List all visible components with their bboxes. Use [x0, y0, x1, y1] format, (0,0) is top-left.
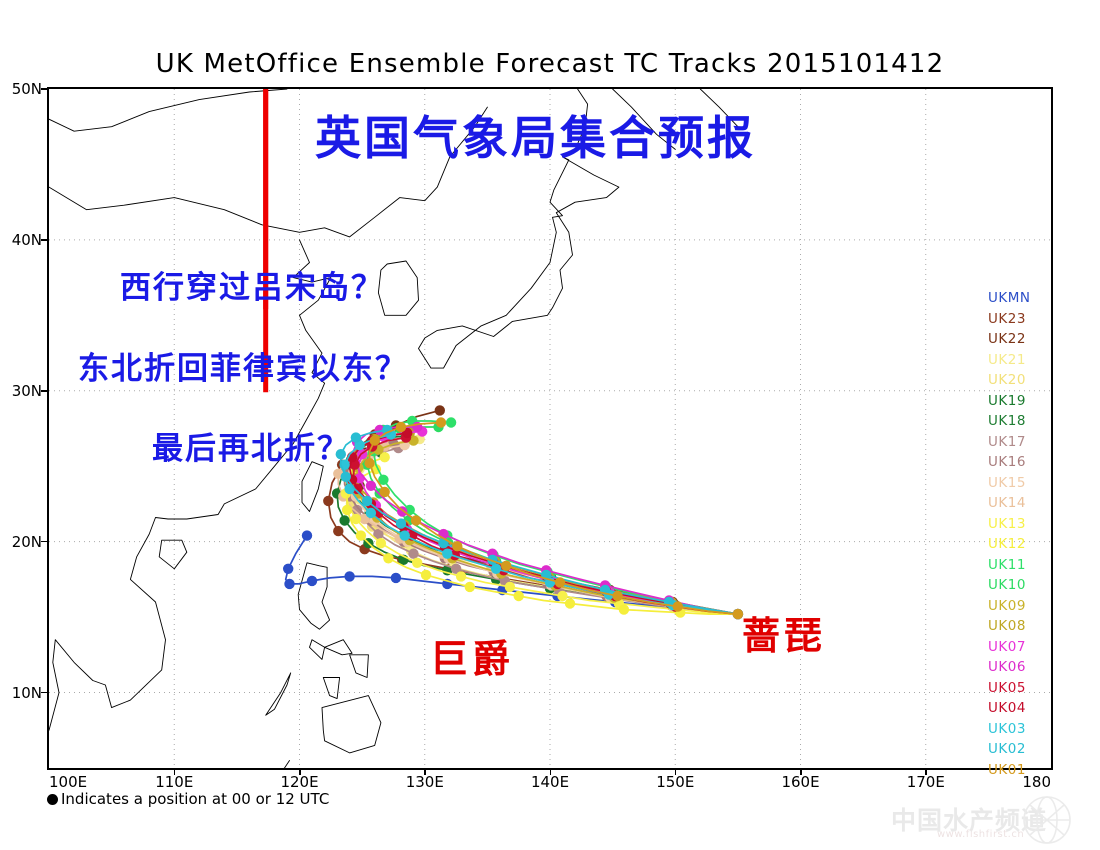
x-tick-label: 100E	[49, 773, 87, 791]
legend-item-ukmn[interactable]: UKMN	[988, 288, 1058, 309]
x-tick-label: 110E	[155, 773, 193, 791]
x-tick-mark	[550, 768, 552, 775]
y-tick-mark	[41, 239, 48, 241]
x-tick-mark	[174, 768, 176, 775]
footnote: Indicates a position at 00 or 12 UTC	[47, 790, 329, 808]
x-tick-mark	[800, 768, 802, 775]
globe-icon	[1007, 795, 1083, 847]
x-tick-label: 140E	[531, 773, 569, 791]
annotation-line-2: 东北折回菲律宾以东？	[78, 343, 408, 388]
legend-item-uk18[interactable]: UK18	[988, 411, 1058, 432]
y-tick-label: 40N	[12, 231, 42, 249]
x-tick-label: 130E	[406, 773, 444, 791]
x-tick-mark	[299, 768, 301, 775]
x-tick-label: 160E	[781, 773, 819, 791]
annotation-line-1: 西行穿过吕宋岛？	[120, 262, 384, 307]
legend-item-uk10[interactable]: UK10	[988, 575, 1058, 596]
y-tick-mark	[41, 390, 48, 392]
legend-item-uk14[interactable]: UK14	[988, 493, 1058, 514]
tc-track-chart: UK MetOffice Ensemble Forecast TC Tracks…	[0, 0, 1100, 850]
legend-item-uk17[interactable]: UK17	[988, 432, 1058, 453]
y-tick-mark	[41, 541, 48, 543]
storm-label-koppu: 巨爵	[430, 628, 514, 683]
legend-item-uk20[interactable]: UK20	[988, 370, 1058, 391]
legend-item-uk01[interactable]: UK01	[988, 760, 1058, 781]
track-UK04	[347, 428, 743, 620]
x-tick-mark	[925, 768, 927, 775]
legend-item-uk05[interactable]: UK05	[988, 678, 1058, 699]
storm-label-champi: 蔷琵	[742, 605, 826, 660]
y-tick-mark	[41, 88, 48, 90]
legend-item-uk06[interactable]: UK06	[988, 657, 1058, 678]
y-tick-label: 20N	[12, 533, 42, 551]
legend-item-uk16[interactable]: UK16	[988, 452, 1058, 473]
legend-item-uk09[interactable]: UK09	[988, 596, 1058, 617]
legend-item-uk19[interactable]: UK19	[988, 391, 1058, 412]
legend-item-uk11[interactable]: UK11	[988, 555, 1058, 576]
y-tick-label: 10N	[12, 684, 42, 702]
ensemble-legend: UKMNUK23UK22UK21UK20UK19UK18UK17UK16UK15…	[988, 288, 1058, 780]
y-tick-label: 50N	[12, 80, 42, 98]
ensemble-tracks	[283, 405, 743, 619]
legend-item-uk12[interactable]: UK12	[988, 534, 1058, 555]
annotation-line-3: 最后再北折？	[152, 423, 350, 468]
legend-item-uk21[interactable]: UK21	[988, 350, 1058, 371]
legend-item-uk04[interactable]: UK04	[988, 698, 1058, 719]
annotation-heading: 英国气象局集合预报	[315, 102, 756, 168]
x-tick-label: 120E	[280, 773, 318, 791]
legend-item-uk07[interactable]: UK07	[988, 637, 1058, 658]
legend-item-uk13[interactable]: UK13	[988, 514, 1058, 535]
watermark: 中国水产频道 www.fishfirst.cn	[885, 795, 1085, 847]
y-tick-mark	[41, 692, 48, 694]
page-title: UK MetOffice Ensemble Forecast TC Tracks…	[0, 49, 1100, 79]
x-tick-label: 170E	[907, 773, 945, 791]
x-tick-mark	[675, 768, 677, 775]
x-tick-label: 150E	[656, 773, 694, 791]
legend-item-uk02[interactable]: UK02	[988, 739, 1058, 760]
track-UK02	[336, 425, 744, 620]
y-tick-label: 30N	[12, 382, 42, 400]
legend-item-uk03[interactable]: UK03	[988, 719, 1058, 740]
position-dot-icon	[47, 794, 58, 805]
footnote-text: Indicates a position at 00 or 12 UTC	[61, 790, 329, 808]
legend-item-uk22[interactable]: UK22	[988, 329, 1058, 350]
x-tick-mark	[424, 768, 426, 775]
legend-item-uk08[interactable]: UK08	[988, 616, 1058, 637]
legend-item-uk15[interactable]: UK15	[988, 473, 1058, 494]
legend-item-uk23[interactable]: UK23	[988, 309, 1058, 330]
